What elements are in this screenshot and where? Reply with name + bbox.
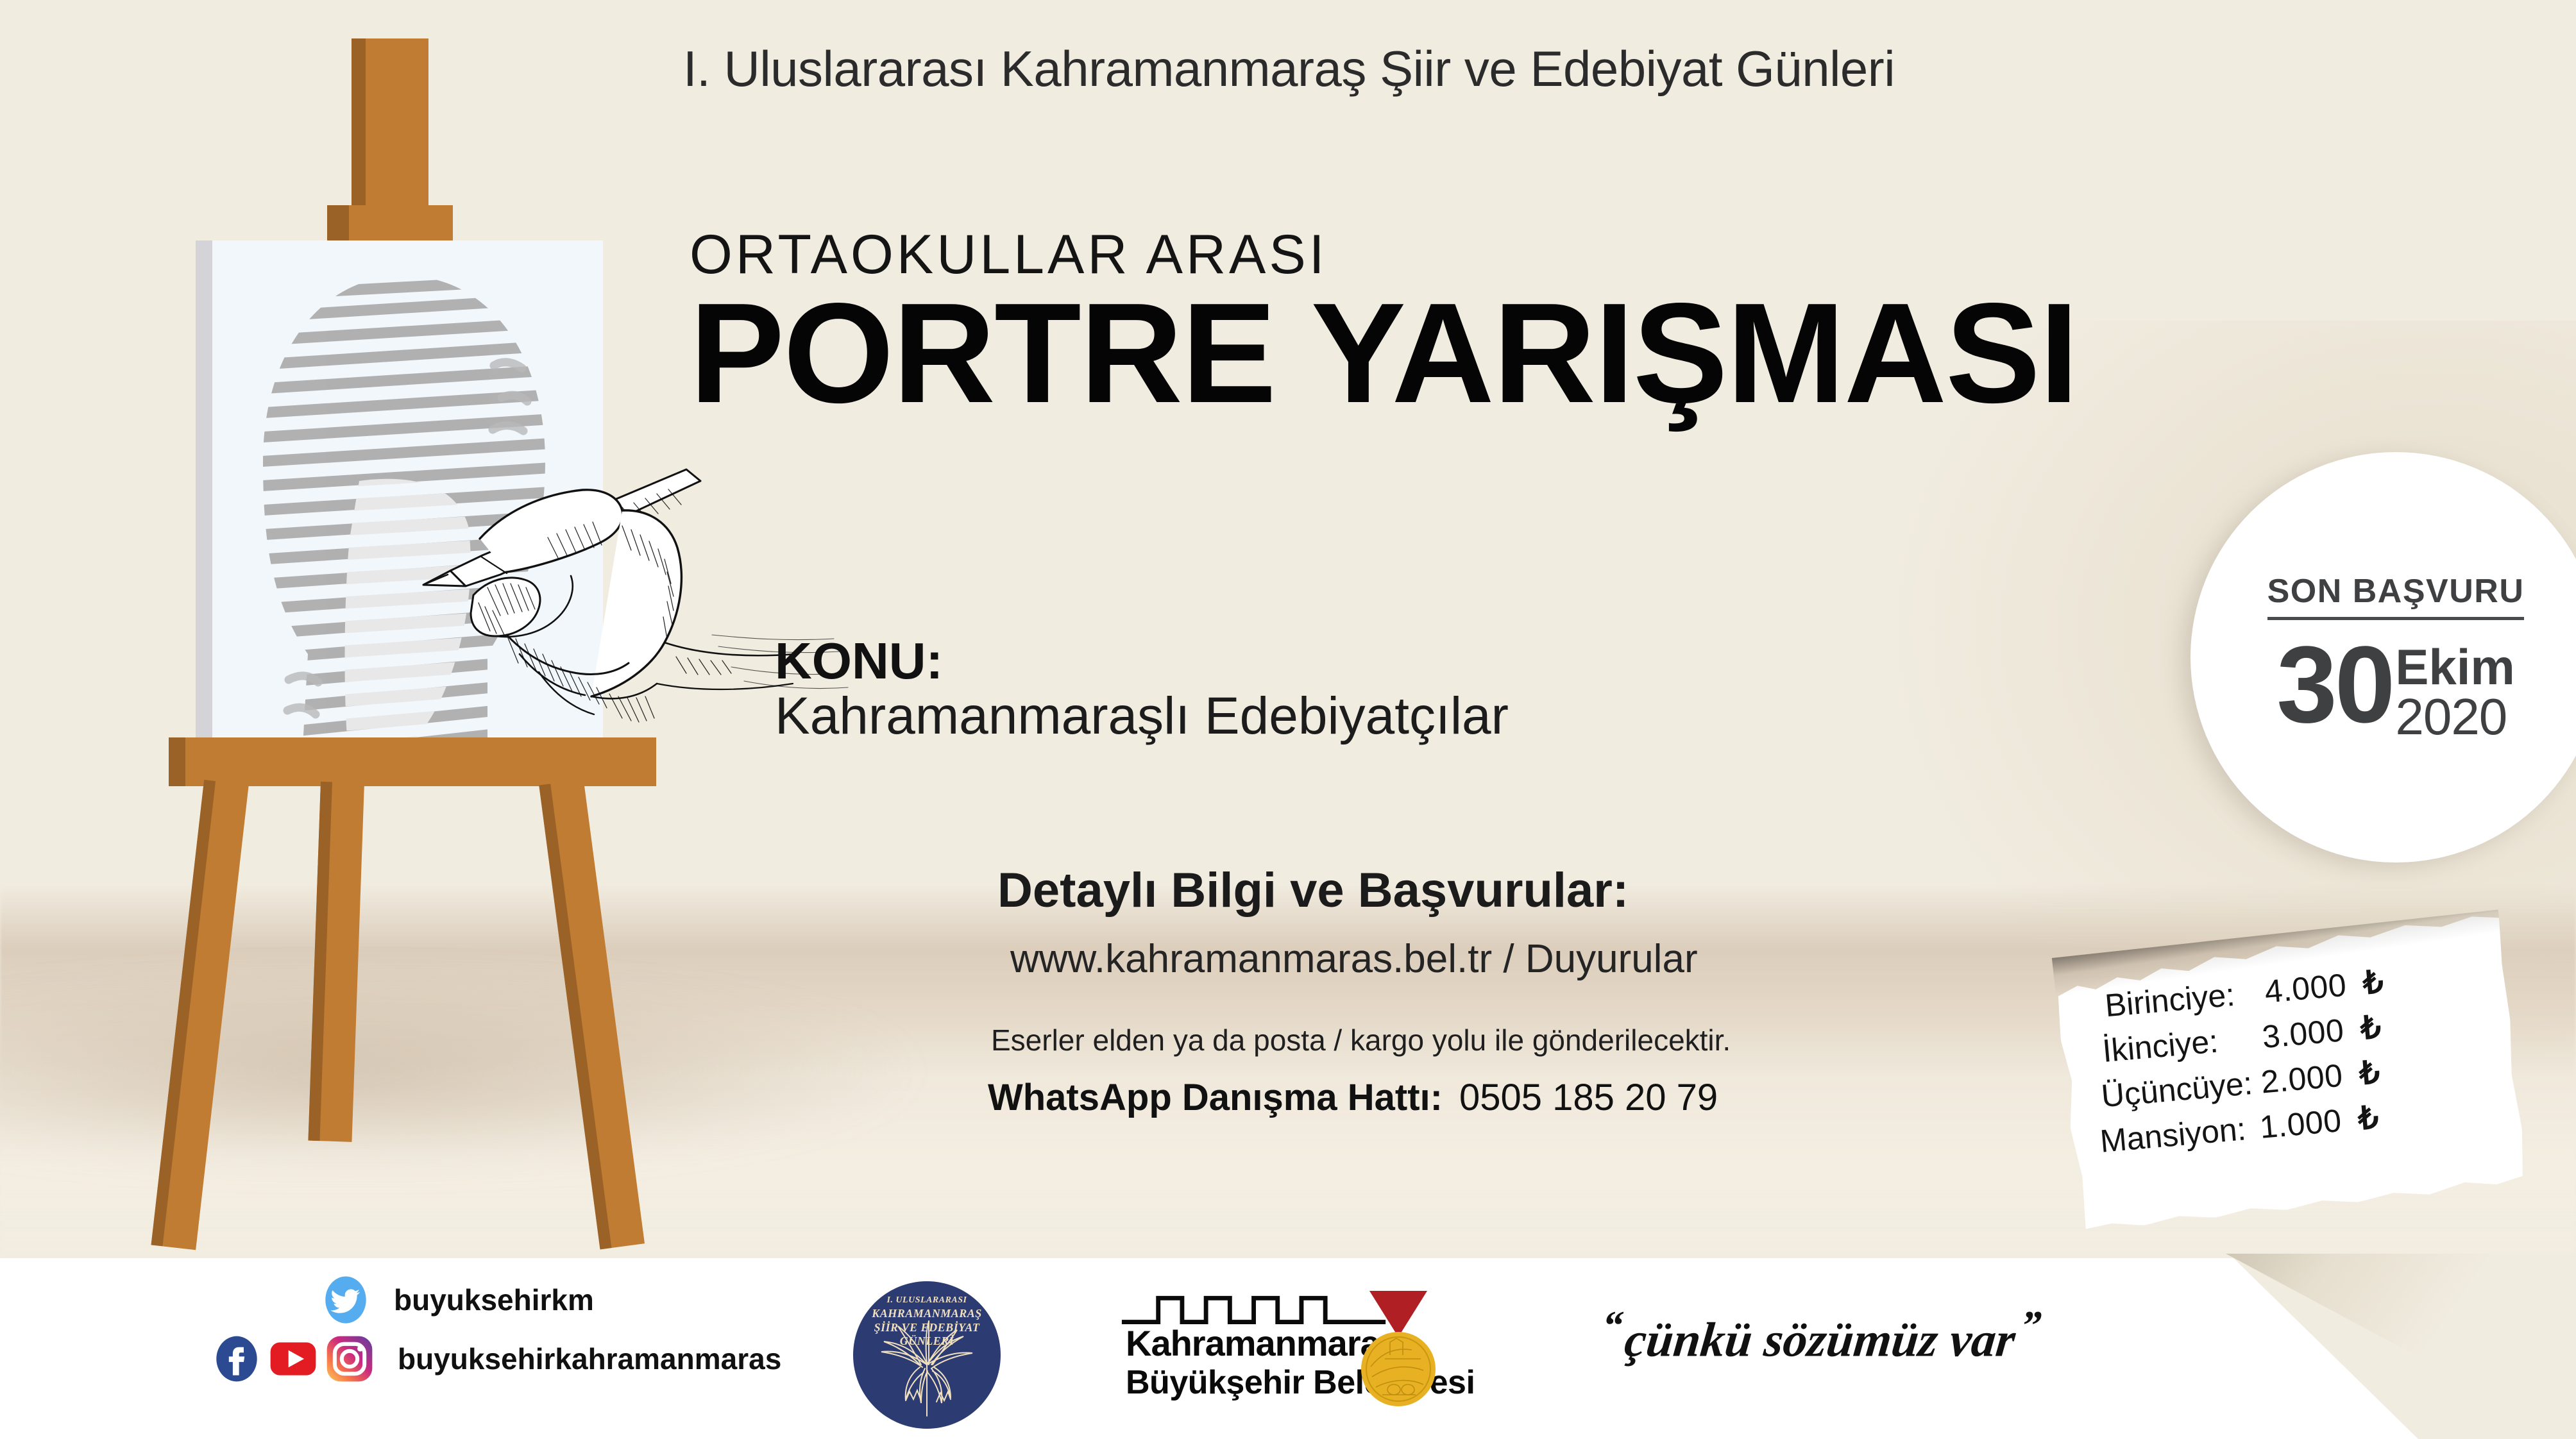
prize-currency: ₺ xyxy=(2343,1008,2383,1048)
social-media-block: buyuksehirkm xyxy=(212,1275,853,1393)
easel-mast xyxy=(352,38,428,231)
slogan-text: çünkü sözümüz var xyxy=(1622,1313,2018,1367)
whatsapp-label: WhatsApp Danışma Hattı: xyxy=(988,1077,1443,1118)
deadline-month-year: Ekim 2020 xyxy=(2393,638,2514,742)
prize-currency: ₺ xyxy=(2340,1098,2380,1139)
easel-leg-middle-shade xyxy=(308,782,332,1141)
submission-note: Eserler elden ya da posta / kargo yolu i… xyxy=(991,1023,1731,1057)
twitter-icon[interactable] xyxy=(321,1275,371,1325)
event-series-title: I. Uluslararası Kahramanmaraş Şiir ve Ed… xyxy=(683,40,2543,98)
prize-amount: 3.000 xyxy=(2260,1011,2345,1056)
slogan-open-quote: “ xyxy=(1596,1302,1629,1348)
prize-note: Birinciye: 4.000 ₺ İkinciye: 3.000 ₺ Üçü… xyxy=(2052,909,2528,1232)
prize-amount: 2.000 xyxy=(2260,1057,2344,1101)
easel-illustration xyxy=(0,0,770,1257)
easel-tray-shade xyxy=(169,737,185,786)
page-title: PORTRE YARIŞMASI xyxy=(690,279,2078,428)
canvas-left-edge xyxy=(196,240,212,766)
deadline-year: 2020 xyxy=(2395,691,2514,743)
easel-leg-left xyxy=(151,780,249,1250)
topic-value: Kahramanmaraşlı Edebiyatçılar xyxy=(775,686,1509,746)
slogan: “çünkü sözümüz var” xyxy=(1594,1302,2047,1368)
deadline-label: SON BAŞVURU xyxy=(2267,572,2525,620)
prize-label: Üçüncüye: xyxy=(2099,1064,2262,1115)
details-heading: Detaylı Bilgi ve Başvurular: xyxy=(997,863,1629,918)
deadline-date-row: 30 Ekim 2020 xyxy=(2276,638,2515,742)
twitter-handle[interactable]: buyuksehirkm xyxy=(377,1283,594,1317)
details-url[interactable]: www.kahramanmaras.bel.tr / Duyurular xyxy=(1010,936,1698,982)
medal-icon xyxy=(1357,1288,1440,1416)
social-row-twitter: buyuksehirkm xyxy=(212,1275,853,1325)
prize-currency: ₺ xyxy=(2344,963,2385,1004)
easel-mast-shade xyxy=(352,38,366,231)
slogan-close-quote: ” xyxy=(2014,1302,2047,1348)
easel-leg-left-shade xyxy=(151,780,216,1246)
other-handle[interactable]: buyuksehirkahramanmaras xyxy=(381,1342,781,1376)
social-icons-group xyxy=(212,1334,381,1384)
social-icons-twitter xyxy=(321,1275,377,1325)
prize-label: İkinciye: xyxy=(2101,1018,2264,1070)
social-row-other: buyuksehirkahramanmaras xyxy=(212,1334,853,1384)
prize-currency: ₺ xyxy=(2341,1054,2382,1094)
instagram-icon[interactable] xyxy=(325,1334,375,1384)
prize-label: Mansiyon: xyxy=(2099,1109,2262,1160)
whatsapp-number[interactable]: 0505 185 20 79 xyxy=(1443,1077,1718,1118)
fritillaria-flower-icon xyxy=(853,1281,1001,1429)
whatsapp-line: WhatsApp Danışma Hattı:0505 185 20 79 xyxy=(988,1076,1718,1119)
youtube-icon[interactable] xyxy=(268,1334,318,1384)
prize-amount: 4.000 xyxy=(2263,966,2348,1011)
deadline-day: 30 xyxy=(2276,638,2393,732)
festival-logo: I. ULUSLARARASI KAHRAMANMARAŞ ŞİİR VE ED… xyxy=(840,1276,1007,1436)
municipality-logo: Kahramanmaraş Büyükşehir Belediyesi xyxy=(1119,1283,1427,1430)
topic-label: KONU: xyxy=(775,632,943,691)
deadline-month: Ekim xyxy=(2395,643,2514,691)
poster-root: I. Uluslararası Kahramanmaraş Şiir ve Ed… xyxy=(0,0,2576,1439)
festival-logo-circle: I. ULUSLARARASI KAHRAMANMARAŞ ŞİİR VE ED… xyxy=(853,1281,1001,1429)
easel-leg-right xyxy=(539,779,645,1249)
prize-list: Birinciye: 4.000 ₺ İkinciye: 3.000 ₺ Üçü… xyxy=(2094,954,2501,1166)
facebook-icon[interactable] xyxy=(212,1334,262,1384)
easel-leg-middle xyxy=(308,782,364,1142)
prize-amount: 1.000 xyxy=(2258,1102,2343,1146)
easel-leg-right-shade xyxy=(539,784,611,1249)
